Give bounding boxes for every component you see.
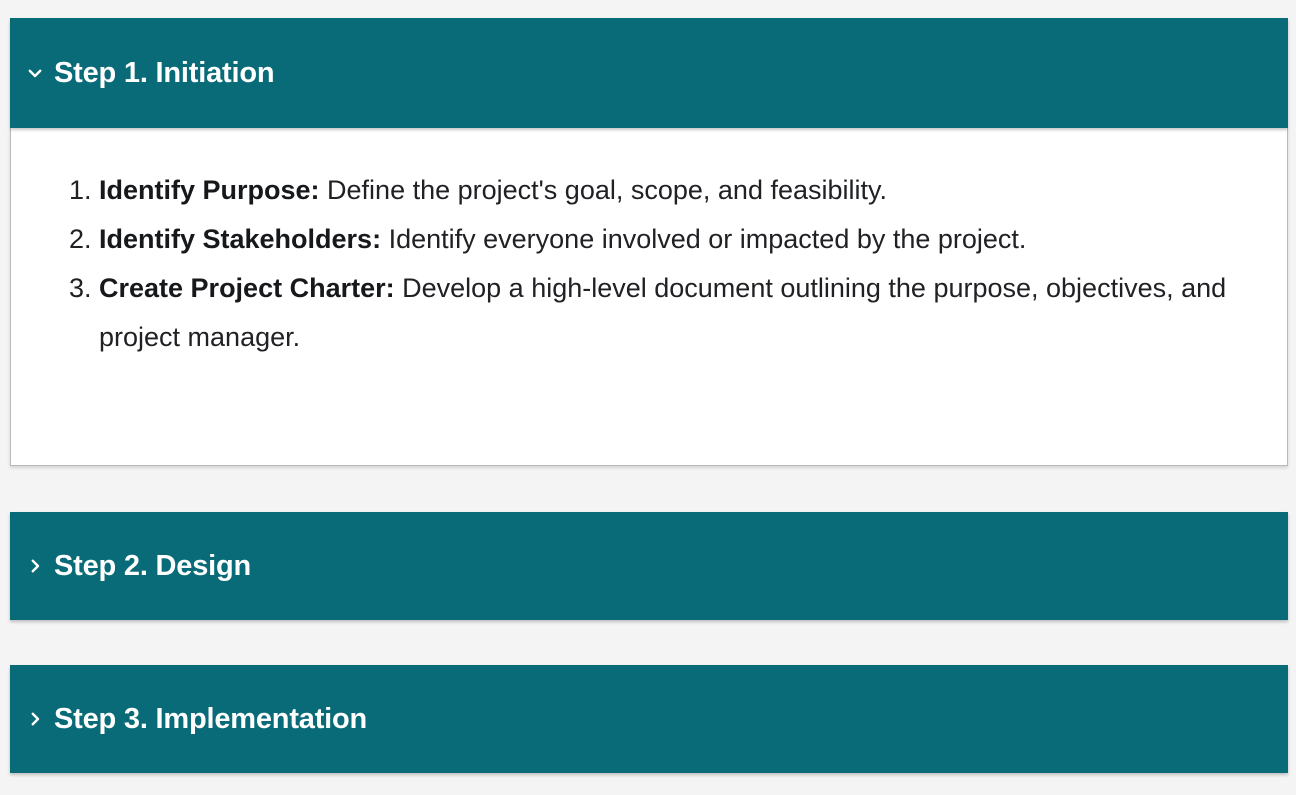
list-item: Create Project Charter: Develop a high-l…	[99, 264, 1257, 362]
list-item-lead: Identify Stakeholders:	[99, 224, 381, 254]
chevron-right-icon	[24, 555, 46, 577]
accordion-title-step-3: Step 3. Implementation	[54, 705, 367, 734]
accordion-item-step-1: Step 1. Initiation Identify Purpose: Def…	[10, 18, 1288, 466]
chevron-right-icon	[24, 708, 46, 730]
list-item-lead: Identify Purpose:	[99, 175, 320, 205]
accordion-panel-step-1: Identify Purpose: Define the project's g…	[10, 128, 1288, 466]
list-item: Identify Purpose: Define the project's g…	[99, 166, 1257, 215]
accordion-item-step-2: Step 2. Design	[10, 512, 1288, 620]
accordion: Step 1. Initiation Identify Purpose: Def…	[0, 0, 1296, 795]
accordion-title-step-2: Step 2. Design	[54, 552, 251, 581]
accordion-title-step-1: Step 1. Initiation	[54, 59, 274, 88]
accordion-header-step-1[interactable]: Step 1. Initiation	[10, 18, 1288, 128]
step-list: Identify Purpose: Define the project's g…	[41, 166, 1257, 362]
list-item-rest: Identify everyone involved or impacted b…	[381, 224, 1026, 254]
accordion-header-step-3[interactable]: Step 3. Implementation	[10, 665, 1288, 773]
list-item-lead: Create Project Charter:	[99, 273, 395, 303]
chevron-down-icon	[24, 62, 46, 84]
accordion-item-step-3: Step 3. Implementation	[10, 665, 1288, 773]
list-item: Identify Stakeholders: Identify everyone…	[99, 215, 1257, 264]
list-item-rest: Define the project's goal, scope, and fe…	[320, 175, 887, 205]
accordion-header-step-2[interactable]: Step 2. Design	[10, 512, 1288, 620]
